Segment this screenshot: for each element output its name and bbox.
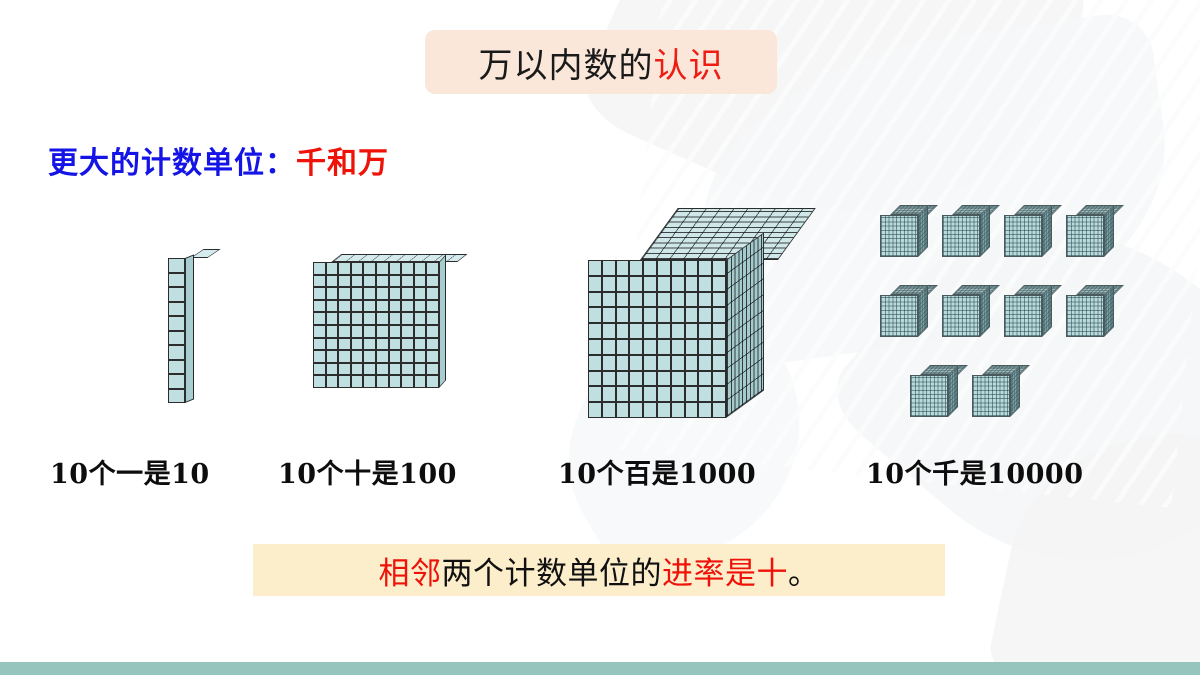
unit-cell bbox=[698, 292, 712, 308]
unit-cell bbox=[602, 339, 616, 355]
unit-cell bbox=[657, 355, 671, 371]
unit-cell bbox=[712, 276, 726, 292]
statement-black-1: 两个计数单位的 bbox=[442, 556, 663, 592]
thousand-cube bbox=[1066, 205, 1114, 257]
unit-cell bbox=[414, 350, 427, 363]
unit-cell bbox=[698, 402, 712, 418]
thousand-cube-top-face bbox=[920, 365, 968, 375]
unit-cell bbox=[363, 262, 376, 275]
unit-cell bbox=[326, 312, 339, 325]
unit-cell bbox=[657, 339, 671, 355]
unit-cell bbox=[313, 375, 326, 388]
unit-cell bbox=[629, 307, 643, 323]
unit-cell bbox=[338, 325, 351, 338]
unit-cell bbox=[602, 260, 616, 276]
unit-cell bbox=[351, 287, 364, 300]
unit-cell bbox=[588, 386, 602, 402]
unit-cell bbox=[643, 339, 657, 355]
unit-cell bbox=[588, 355, 602, 371]
rod-front-face bbox=[168, 258, 185, 403]
unit-cell bbox=[389, 275, 402, 288]
statement-text: 相邻两个计数单位的进率是十。 bbox=[379, 548, 820, 593]
unit-cell bbox=[376, 338, 389, 351]
unit-cell bbox=[616, 402, 630, 418]
unit-cell bbox=[602, 276, 616, 292]
unit-cell bbox=[671, 355, 685, 371]
unit-cell bbox=[168, 258, 185, 273]
unit-cell bbox=[338, 262, 351, 275]
unit-cell bbox=[313, 262, 326, 275]
unit-cell bbox=[313, 325, 326, 338]
unit-cell bbox=[326, 350, 339, 363]
unit-cell bbox=[351, 363, 364, 376]
unit-cell bbox=[602, 371, 616, 387]
unit-cell bbox=[389, 287, 402, 300]
unit-cell bbox=[685, 355, 699, 371]
thousand-cube-front-face bbox=[1066, 295, 1104, 337]
unit-cell bbox=[616, 307, 630, 323]
unit-cell bbox=[616, 355, 630, 371]
unit-cell bbox=[698, 371, 712, 387]
unit-cell bbox=[698, 307, 712, 323]
unit-cell bbox=[629, 260, 643, 276]
unit-cell bbox=[657, 323, 671, 339]
unit-cell bbox=[712, 260, 726, 276]
unit-cell bbox=[389, 338, 402, 351]
unit-cell bbox=[414, 275, 427, 288]
unit-cell bbox=[629, 323, 643, 339]
unit-cell bbox=[643, 371, 657, 387]
unit-cell bbox=[616, 339, 630, 355]
thousand-cube-top-face bbox=[890, 285, 938, 295]
unit-cell bbox=[643, 276, 657, 292]
unit-cell bbox=[643, 323, 657, 339]
unit-cell bbox=[351, 350, 364, 363]
unit-cell bbox=[414, 338, 427, 351]
unit-cell bbox=[616, 292, 630, 308]
thousand-cube bbox=[942, 285, 990, 337]
block-caption-ones: 10个一是10 bbox=[50, 452, 210, 491]
thousand-cube-top-face bbox=[952, 285, 1000, 295]
unit-cell bbox=[712, 292, 726, 308]
unit-cell bbox=[712, 371, 726, 387]
unit-cell bbox=[414, 300, 427, 313]
unit-cell bbox=[326, 375, 339, 388]
thousand-cube-front-face bbox=[1004, 295, 1042, 337]
thousand-cube-front-face bbox=[880, 295, 918, 337]
unit-cell bbox=[643, 292, 657, 308]
thousand-cube-side-face bbox=[1042, 285, 1052, 337]
unit-cell bbox=[426, 350, 439, 363]
unit-cell bbox=[712, 339, 726, 355]
unit-cell bbox=[376, 300, 389, 313]
unit-cell bbox=[671, 276, 685, 292]
unit-cell bbox=[376, 363, 389, 376]
thousand-cube-front-face bbox=[972, 375, 1010, 417]
cube-top-face bbox=[640, 208, 816, 260]
unit-cell bbox=[313, 338, 326, 351]
unit-cell bbox=[671, 292, 685, 308]
bottom-accent-bar bbox=[0, 662, 1200, 675]
rod-side-face bbox=[185, 254, 194, 403]
unit-cell bbox=[338, 375, 351, 388]
cube-side-face bbox=[726, 232, 764, 418]
flat-top-face bbox=[331, 254, 467, 262]
unit-cell bbox=[363, 325, 376, 338]
unit-cell bbox=[602, 402, 616, 418]
unit-cell bbox=[313, 363, 326, 376]
unit-cell bbox=[426, 325, 439, 338]
unit-cell bbox=[588, 339, 602, 355]
unit-cell bbox=[657, 371, 671, 387]
thousand-cube-top-face bbox=[982, 365, 1030, 375]
unit-cell bbox=[376, 375, 389, 388]
cube-front-face bbox=[588, 260, 726, 418]
unit-cell bbox=[629, 371, 643, 387]
unit-cell bbox=[685, 339, 699, 355]
unit-cell bbox=[338, 287, 351, 300]
unit-cell bbox=[414, 363, 427, 376]
unit-cell bbox=[712, 307, 726, 323]
unit-cell bbox=[351, 275, 364, 288]
unit-cell bbox=[616, 260, 630, 276]
thousand-cube-front-face bbox=[1066, 215, 1104, 257]
unit-cell bbox=[363, 350, 376, 363]
unit-cell bbox=[698, 323, 712, 339]
unit-cell bbox=[363, 363, 376, 376]
unit-cell bbox=[168, 331, 185, 346]
unit-cell bbox=[389, 375, 402, 388]
unit-cell bbox=[629, 402, 643, 418]
unit-cell bbox=[602, 323, 616, 339]
unit-cell bbox=[643, 355, 657, 371]
unit-cell bbox=[671, 307, 685, 323]
unit-cell bbox=[313, 312, 326, 325]
unit-cell bbox=[168, 273, 185, 288]
unit-cell bbox=[426, 375, 439, 388]
thousand-cube bbox=[880, 205, 928, 257]
flat-side-face bbox=[439, 254, 446, 388]
thousand-cube-side-face bbox=[1104, 285, 1114, 337]
unit-cell bbox=[588, 292, 602, 308]
unit-cell bbox=[401, 338, 414, 351]
unit-cell bbox=[426, 338, 439, 351]
unit-cell bbox=[685, 307, 699, 323]
unit-cell bbox=[426, 300, 439, 313]
unit-cell bbox=[351, 300, 364, 313]
unit-cell bbox=[426, 287, 439, 300]
unit-cell bbox=[643, 307, 657, 323]
unit-cell bbox=[168, 360, 185, 375]
unit-cell bbox=[657, 402, 671, 418]
thousand-cube-top-face bbox=[1076, 285, 1124, 295]
unit-cell bbox=[657, 276, 671, 292]
unit-cell bbox=[363, 338, 376, 351]
thousand-cube-front-face bbox=[1004, 215, 1042, 257]
unit-cell bbox=[602, 307, 616, 323]
unit-cell bbox=[401, 350, 414, 363]
unit-cell bbox=[363, 300, 376, 313]
unit-cell bbox=[313, 275, 326, 288]
tens-flat-block bbox=[313, 262, 439, 388]
unit-cell bbox=[414, 325, 427, 338]
unit-cell bbox=[698, 276, 712, 292]
thousand-cube bbox=[1004, 205, 1052, 257]
block-caption-hundreds: 10个百是1000 bbox=[558, 452, 756, 491]
thousand-cube-side-face bbox=[948, 365, 958, 417]
unit-cell bbox=[712, 355, 726, 371]
statement-black-2: 。 bbox=[788, 556, 820, 592]
thousand-cube-front-face bbox=[910, 375, 948, 417]
unit-cell bbox=[338, 312, 351, 325]
unit-cell bbox=[338, 363, 351, 376]
unit-cell bbox=[389, 350, 402, 363]
unit-cell bbox=[168, 345, 185, 360]
unit-cell bbox=[712, 402, 726, 418]
unit-cell bbox=[629, 386, 643, 402]
unit-cell bbox=[389, 300, 402, 313]
thousand-cube bbox=[972, 365, 1020, 417]
thousand-cube-top-face bbox=[1014, 205, 1062, 215]
unit-cell bbox=[426, 262, 439, 275]
unit-cell bbox=[685, 292, 699, 308]
unit-cell bbox=[389, 363, 402, 376]
thousand-cube bbox=[880, 285, 928, 337]
unit-cell bbox=[401, 312, 414, 325]
unit-cell bbox=[363, 287, 376, 300]
unit-cell bbox=[685, 260, 699, 276]
unit-cell bbox=[376, 325, 389, 338]
flat-front-face bbox=[313, 262, 439, 388]
unit-cell bbox=[588, 402, 602, 418]
unit-cell bbox=[643, 402, 657, 418]
unit-cell bbox=[629, 339, 643, 355]
unit-cell bbox=[698, 355, 712, 371]
unit-cell bbox=[389, 262, 402, 275]
unit-cell bbox=[643, 260, 657, 276]
unit-cell bbox=[602, 386, 616, 402]
unit-cell bbox=[326, 300, 339, 313]
unit-cell bbox=[685, 276, 699, 292]
ones-rod-block bbox=[168, 258, 185, 403]
thousand-cube-front-face bbox=[942, 295, 980, 337]
unit-cell bbox=[313, 300, 326, 313]
unit-cell bbox=[326, 262, 339, 275]
unit-cell bbox=[363, 375, 376, 388]
thousand-cube-top-face bbox=[1014, 285, 1062, 295]
unit-cell bbox=[313, 287, 326, 300]
unit-cell bbox=[414, 375, 427, 388]
unit-cell bbox=[351, 262, 364, 275]
unit-cell bbox=[351, 312, 364, 325]
unit-cell bbox=[376, 275, 389, 288]
thousand-cube-front-face bbox=[880, 215, 918, 257]
unit-cell bbox=[313, 350, 326, 363]
unit-cell bbox=[351, 338, 364, 351]
unit-cell bbox=[602, 292, 616, 308]
unit-cell bbox=[168, 287, 185, 302]
unit-cell bbox=[168, 302, 185, 317]
unit-cell bbox=[389, 312, 402, 325]
unit-cell bbox=[629, 292, 643, 308]
thousand-cube-top-face bbox=[890, 205, 938, 215]
thousand-cube bbox=[1004, 285, 1052, 337]
unit-cell bbox=[168, 389, 185, 404]
thousand-cube-side-face bbox=[1042, 205, 1052, 257]
unit-cell bbox=[671, 323, 685, 339]
unit-cell bbox=[671, 371, 685, 387]
unit-cell bbox=[685, 402, 699, 418]
unit-cell bbox=[401, 363, 414, 376]
statement-red-1: 相邻 bbox=[379, 556, 442, 592]
unit-cell bbox=[616, 386, 630, 402]
unit-cell bbox=[338, 275, 351, 288]
unit-cell bbox=[671, 339, 685, 355]
unit-cell bbox=[401, 300, 414, 313]
unit-cell bbox=[401, 287, 414, 300]
unit-cell bbox=[376, 312, 389, 325]
unit-cell bbox=[616, 323, 630, 339]
thousand-cube-top-face bbox=[1076, 205, 1124, 215]
unit-cell bbox=[671, 386, 685, 402]
unit-cell bbox=[326, 338, 339, 351]
thousand-cube bbox=[910, 365, 958, 417]
unit-cell bbox=[698, 339, 712, 355]
block-caption-thousands: 10个千是10000 bbox=[866, 452, 1084, 491]
statement-red-2: 进率是十 bbox=[662, 556, 788, 592]
unit-cell bbox=[168, 374, 185, 389]
unit-cell bbox=[685, 386, 699, 402]
unit-cell bbox=[712, 323, 726, 339]
unit-cell bbox=[363, 275, 376, 288]
unit-cell bbox=[602, 355, 616, 371]
thousands-cubes-group bbox=[880, 205, 1120, 420]
thousand-cube-side-face bbox=[1104, 205, 1114, 257]
thousand-cube-top-face bbox=[952, 205, 1000, 215]
unit-cell bbox=[629, 276, 643, 292]
unit-cell bbox=[671, 402, 685, 418]
unit-cell bbox=[657, 307, 671, 323]
unit-cell bbox=[401, 275, 414, 288]
thousand-cube-side-face bbox=[980, 205, 990, 257]
unit-cell bbox=[685, 323, 699, 339]
unit-cell bbox=[351, 375, 364, 388]
unit-cell bbox=[338, 338, 351, 351]
unit-cell bbox=[616, 371, 630, 387]
unit-cell bbox=[643, 386, 657, 402]
statement-banner: 相邻两个计数单位的进率是十。 bbox=[253, 544, 945, 596]
unit-cell bbox=[426, 312, 439, 325]
unit-cell bbox=[426, 275, 439, 288]
unit-cell bbox=[414, 287, 427, 300]
unit-cell bbox=[326, 275, 339, 288]
unit-cell bbox=[326, 325, 339, 338]
unit-cell bbox=[389, 325, 402, 338]
thousand-cube-front-face bbox=[942, 215, 980, 257]
thousand-cube-side-face bbox=[918, 285, 928, 337]
unit-cell bbox=[657, 386, 671, 402]
unit-cell bbox=[401, 325, 414, 338]
rod-top-face bbox=[190, 249, 220, 258]
unit-cell bbox=[363, 312, 376, 325]
unit-cell bbox=[401, 375, 414, 388]
unit-cell bbox=[616, 276, 630, 292]
thousand-cube-side-face bbox=[918, 205, 928, 257]
unit-cell bbox=[376, 350, 389, 363]
unit-cell bbox=[588, 307, 602, 323]
thousand-cube-side-face bbox=[980, 285, 990, 337]
unit-cell bbox=[588, 323, 602, 339]
unit-cell bbox=[401, 262, 414, 275]
unit-cell bbox=[588, 260, 602, 276]
hundreds-cube-block bbox=[588, 208, 763, 420]
unit-cell bbox=[685, 371, 699, 387]
unit-cell bbox=[671, 260, 685, 276]
block-caption-tens: 10个十是100 bbox=[278, 452, 457, 491]
thousand-cube bbox=[942, 205, 990, 257]
thousand-cube-side-face bbox=[1010, 365, 1020, 417]
unit-cell bbox=[376, 262, 389, 275]
unit-cell bbox=[629, 355, 643, 371]
unit-cell bbox=[168, 316, 185, 331]
thousand-cube bbox=[1066, 285, 1114, 337]
unit-cell bbox=[657, 260, 671, 276]
unit-cell bbox=[338, 350, 351, 363]
unit-cell bbox=[376, 287, 389, 300]
unit-cell bbox=[326, 287, 339, 300]
unit-cell bbox=[588, 371, 602, 387]
unit-cell bbox=[698, 386, 712, 402]
unit-cell bbox=[414, 312, 427, 325]
unit-cell bbox=[657, 292, 671, 308]
unit-cell bbox=[426, 363, 439, 376]
unit-cell bbox=[414, 262, 427, 275]
unit-cell bbox=[338, 300, 351, 313]
unit-cell bbox=[712, 386, 726, 402]
unit-cell bbox=[698, 260, 712, 276]
unit-cell bbox=[351, 325, 364, 338]
unit-cell bbox=[326, 363, 339, 376]
unit-cell bbox=[588, 276, 602, 292]
